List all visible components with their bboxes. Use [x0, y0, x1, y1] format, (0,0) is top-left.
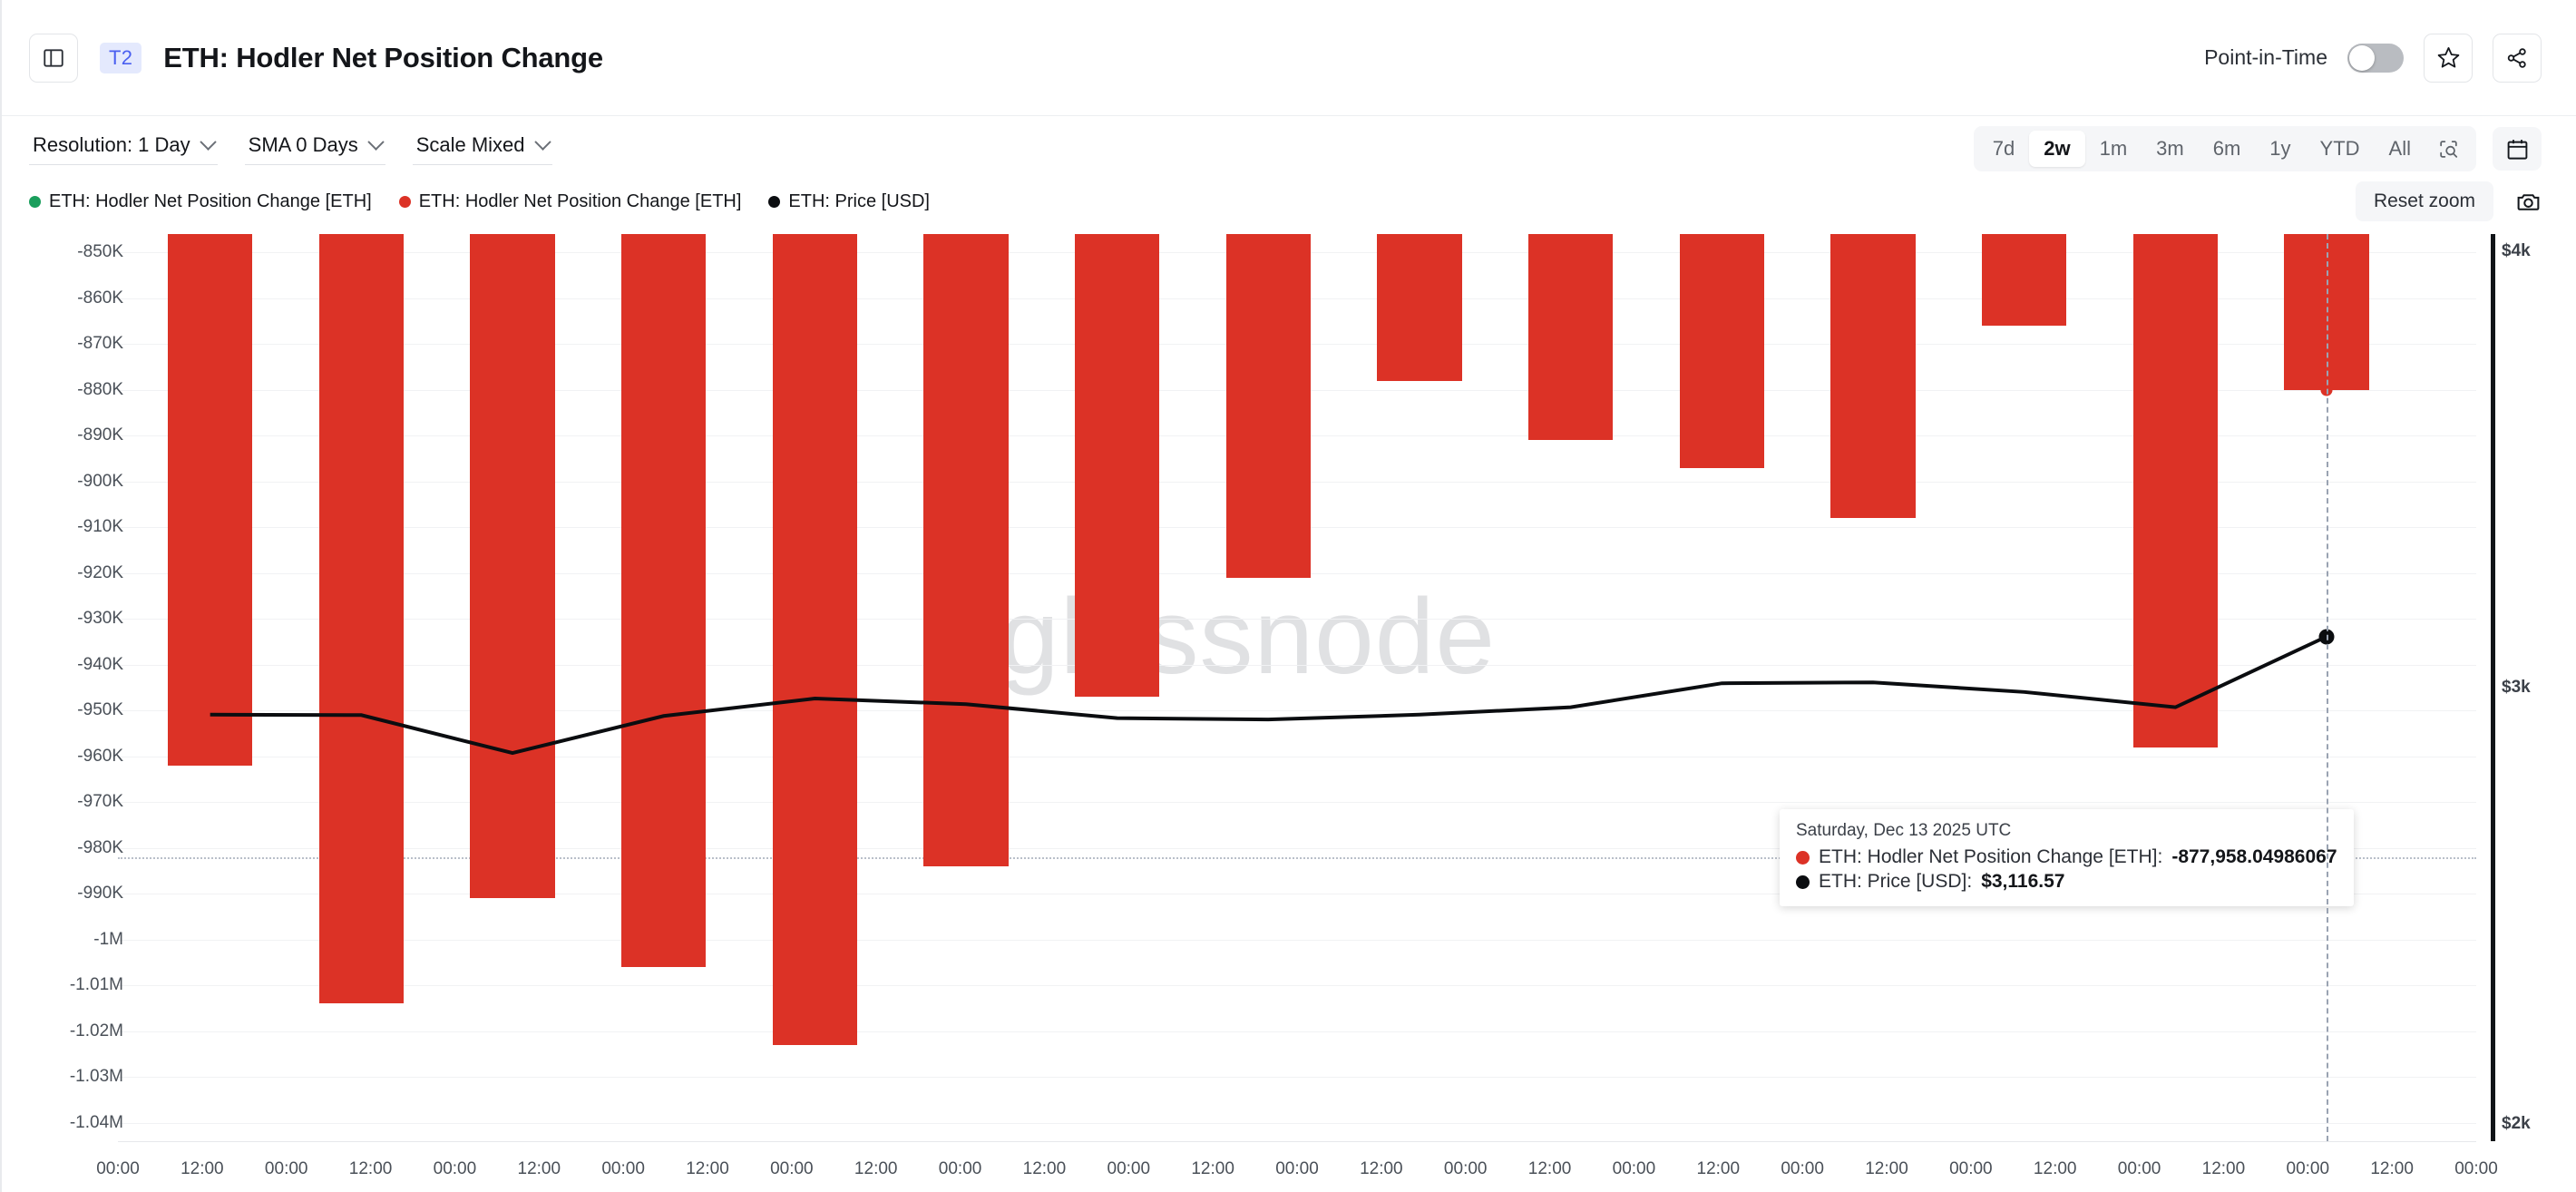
- tooltip-dot-icon: [1796, 875, 1810, 889]
- legend-label: ETH: Hodler Net Position Change [ETH]: [49, 191, 372, 212]
- y-axis-left-tick-label: -1.01M: [70, 975, 123, 995]
- x-axis-tick-label: 00:00: [1275, 1159, 1319, 1179]
- resolution-value: Resolution: 1 Day: [33, 133, 190, 157]
- chart-tooltip: Saturday, Dec 13 2025 UTC ETH: Hodler Ne…: [1780, 809, 2354, 906]
- tooltip-series-value: -877,958.04986067: [2171, 846, 2337, 868]
- y-axis-left-tick-label: -920K: [77, 563, 123, 583]
- legend-dot-icon: [768, 196, 780, 208]
- y-axis-left-tick-label: -1M: [93, 930, 123, 950]
- x-axis-tick-label: 00:00: [770, 1159, 814, 1179]
- range-button-1y[interactable]: 1y: [2255, 131, 2305, 167]
- y-axis-right-tick-label: $4k: [2502, 241, 2531, 261]
- x-axis-tick-label: 00:00: [2118, 1159, 2161, 1179]
- point-in-time-toggle[interactable]: [2347, 44, 2404, 73]
- y-axis-left-tick-label: -990K: [77, 884, 123, 904]
- star-icon: [2436, 45, 2461, 70]
- legend-item-hodler-green[interactable]: ETH: Hodler Net Position Change [ETH]: [29, 191, 372, 212]
- y-axis-left-tick-label: -900K: [77, 472, 123, 492]
- legend-items: ETH: Hodler Net Position Change [ETH] ET…: [29, 191, 930, 212]
- toggle-knob: [2349, 45, 2375, 71]
- sidebar-panel-icon: [42, 46, 65, 70]
- x-axis-tick-label: 00:00: [601, 1159, 645, 1179]
- tooltip-dot-icon: [1796, 851, 1810, 865]
- app-header: T2 ETH: Hodler Net Position Change Point…: [2, 0, 2576, 116]
- x-axis-tick-label: 12:00: [2202, 1159, 2246, 1179]
- tooltip-date: Saturday, Dec 13 2025 UTC: [1796, 821, 2337, 841]
- chevron-down-icon: [200, 133, 216, 150]
- x-axis-tick-label: 12:00: [1360, 1159, 1403, 1179]
- x-axis-tick-label: 12:00: [2034, 1159, 2077, 1179]
- sidebar-toggle-button[interactable]: [29, 34, 78, 83]
- share-icon: [2505, 46, 2529, 70]
- x-axis-tick-label: 00:00: [96, 1159, 140, 1179]
- tooltip-row-price: ETH: Price [USD]: $3,116.57: [1796, 871, 2337, 893]
- favorite-button[interactable]: [2424, 34, 2473, 83]
- range-button-6m[interactable]: 6m: [2199, 131, 2256, 167]
- y-axis-left-tick-label: -1.03M: [70, 1067, 123, 1087]
- range-button-all[interactable]: All: [2375, 131, 2425, 167]
- tooltip-row-hodler: ETH: Hodler Net Position Change [ETH]: -…: [1796, 846, 2337, 868]
- y-axis-left-tick-label: -980K: [77, 838, 123, 858]
- zoom-select-icon: [2437, 138, 2460, 161]
- reset-zoom-button[interactable]: Reset zoom: [2356, 181, 2493, 221]
- toolbar-range-group: 7d 2w 1m 3m 6m 1y YTD All: [1974, 126, 2542, 171]
- y-axis-left-tick-label: -890K: [77, 425, 123, 445]
- legend-item-price[interactable]: ETH: Price [USD]: [768, 191, 930, 212]
- plot-canvas[interactable]: [118, 234, 2476, 1141]
- x-axis-tick-label: 12:00: [349, 1159, 393, 1179]
- header-right-group: Point-in-Time: [2204, 34, 2542, 83]
- legend-dot-icon: [29, 196, 41, 208]
- x-axis-tick-label: 00:00: [1949, 1159, 1993, 1179]
- y-axis-left-tick-label: -950K: [77, 700, 123, 720]
- y-axis-left-tick-label: -880K: [77, 380, 123, 400]
- legend-item-hodler-red[interactable]: ETH: Hodler Net Position Change [ETH]: [399, 191, 742, 212]
- legend-right-actions: Reset zoom: [2356, 181, 2542, 221]
- time-range-selector: 7d 2w 1m 3m 6m 1y YTD All: [1974, 126, 2476, 171]
- y-axis-left-tick-label: -860K: [77, 288, 123, 308]
- y-axis-left-tick-label: -960K: [77, 747, 123, 767]
- chart-toolbar: Resolution: 1 Day SMA 0 Days Scale Mixed…: [2, 116, 2576, 181]
- y-axis-left-tick-label: -970K: [77, 792, 123, 812]
- x-axis-tick-label: 12:00: [1023, 1159, 1067, 1179]
- x-axis-tick-label: 00:00: [1444, 1159, 1488, 1179]
- point-in-time-label: Point-in-Time: [2204, 45, 2327, 70]
- x-axis-tick-label: 00:00: [1781, 1159, 1824, 1179]
- range-button-1m[interactable]: 1m: [2085, 131, 2142, 167]
- x-axis-tick-label: 12:00: [518, 1159, 561, 1179]
- zoom-select-button[interactable]: [2425, 132, 2472, 167]
- resolution-dropdown[interactable]: Resolution: 1 Day: [29, 133, 218, 165]
- tooltip-series-name: ETH: Price [USD]:: [1819, 871, 1972, 893]
- x-axis-tick-label: 12:00: [1528, 1159, 1572, 1179]
- tooltip-series-name: ETH: Hodler Net Position Change [ETH]:: [1819, 846, 2162, 868]
- x-axis-line: [118, 1141, 2476, 1142]
- chevron-down-icon: [534, 133, 551, 150]
- y-axis-left-tick-label: -910K: [77, 517, 123, 537]
- camera-icon[interactable]: [2515, 189, 2542, 215]
- y-axis-right-tick-label: $3k: [2502, 678, 2531, 698]
- tooltip-series-value: $3,116.57: [1981, 871, 2064, 893]
- y-axis-left-tick-label: -1.02M: [70, 1021, 123, 1041]
- share-button[interactable]: [2493, 34, 2542, 83]
- x-axis-tick-label: 00:00: [1107, 1159, 1151, 1179]
- x-axis-tick-label: 00:00: [939, 1159, 982, 1179]
- page-title: ETH: Hodler Net Position Change: [163, 42, 603, 74]
- toolbar-dropdowns: Resolution: 1 Day SMA 0 Days Scale Mixed: [29, 133, 552, 165]
- x-axis-tick-label: 00:00: [1613, 1159, 1656, 1179]
- header-left-group: T2 ETH: Hodler Net Position Change: [29, 34, 603, 83]
- calendar-button[interactable]: [2493, 127, 2542, 171]
- legend-label: ETH: Hodler Net Position Change [ETH]: [419, 191, 742, 212]
- scale-value: Scale Mixed: [416, 133, 525, 157]
- cursor-crosshair-line: [2327, 234, 2328, 1141]
- range-button-ytd[interactable]: YTD: [2306, 131, 2375, 167]
- x-axis-tick-label: 12:00: [854, 1159, 898, 1179]
- chevron-down-icon: [367, 133, 384, 150]
- range-button-2w[interactable]: 2w: [2029, 131, 2084, 167]
- y-axis-left-tick-label: -930K: [77, 609, 123, 629]
- y-axis-right-tick-label: $2k: [2502, 1114, 2531, 1134]
- x-axis-tick-label: 12:00: [181, 1159, 224, 1179]
- x-axis-tick-label: 00:00: [2454, 1159, 2498, 1179]
- x-axis-tick-label: 12:00: [2370, 1159, 2414, 1179]
- y-axis-left-tick-label: -940K: [77, 655, 123, 675]
- legend-label: ETH: Price [USD]: [788, 191, 930, 212]
- right-axis-line: [2491, 234, 2495, 1141]
- x-axis-tick-label: 12:00: [1865, 1159, 1908, 1179]
- y-axis-left-tick-label: -870K: [77, 334, 123, 354]
- x-axis-tick-label: 12:00: [686, 1159, 729, 1179]
- x-axis-tick-label: 00:00: [2287, 1159, 2330, 1179]
- legend-dot-icon: [399, 196, 411, 208]
- range-button-3m[interactable]: 3m: [2142, 131, 2199, 167]
- range-button-7d[interactable]: 7d: [1978, 131, 2029, 167]
- x-axis-tick-label: 12:00: [1697, 1159, 1741, 1179]
- x-axis-tick-label: 12:00: [1191, 1159, 1234, 1179]
- x-axis-tick-label: 00:00: [434, 1159, 477, 1179]
- chart-area[interactable]: glassnode Saturday, Dec 13 2025 UTC ETH:…: [2, 221, 2576, 1192]
- tier-badge: T2: [100, 43, 141, 73]
- price-line-series: [118, 234, 2476, 1141]
- x-axis-tick-label: 00:00: [265, 1159, 308, 1179]
- sma-value: SMA 0 Days: [249, 133, 358, 157]
- y-axis-left-tick-label: -850K: [77, 242, 123, 262]
- sma-dropdown[interactable]: SMA 0 Days: [245, 133, 385, 165]
- calendar-icon: [2505, 137, 2530, 161]
- chart-legend-row: ETH: Hodler Net Position Change [ETH] ET…: [2, 181, 2576, 221]
- scale-dropdown[interactable]: Scale Mixed: [413, 133, 552, 165]
- y-axis-left-tick-label: -1.04M: [70, 1113, 123, 1133]
